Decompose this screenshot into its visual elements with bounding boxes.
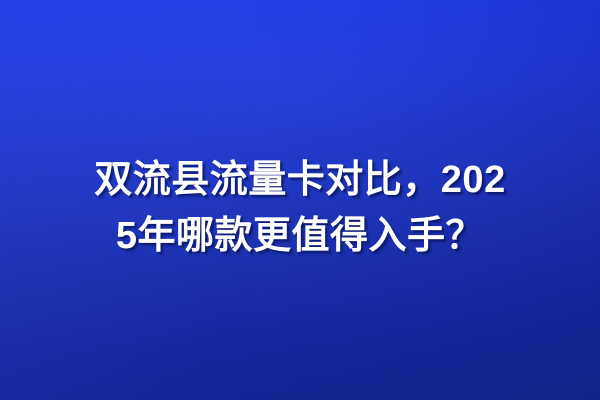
poster-title-line-1: 双流县流量卡对比，202 [0, 152, 600, 208]
background-vignette-overlay [0, 0, 600, 400]
background-sheen-overlay [0, 0, 600, 400]
poster-title: 双流县流量卡对比，202 5年哪款更值得入手？ [0, 152, 600, 264]
poster-title-line-2: 5年哪款更值得入手？ [0, 208, 600, 264]
poster-canvas: 双流县流量卡对比，202 5年哪款更值得入手？ [0, 0, 600, 400]
